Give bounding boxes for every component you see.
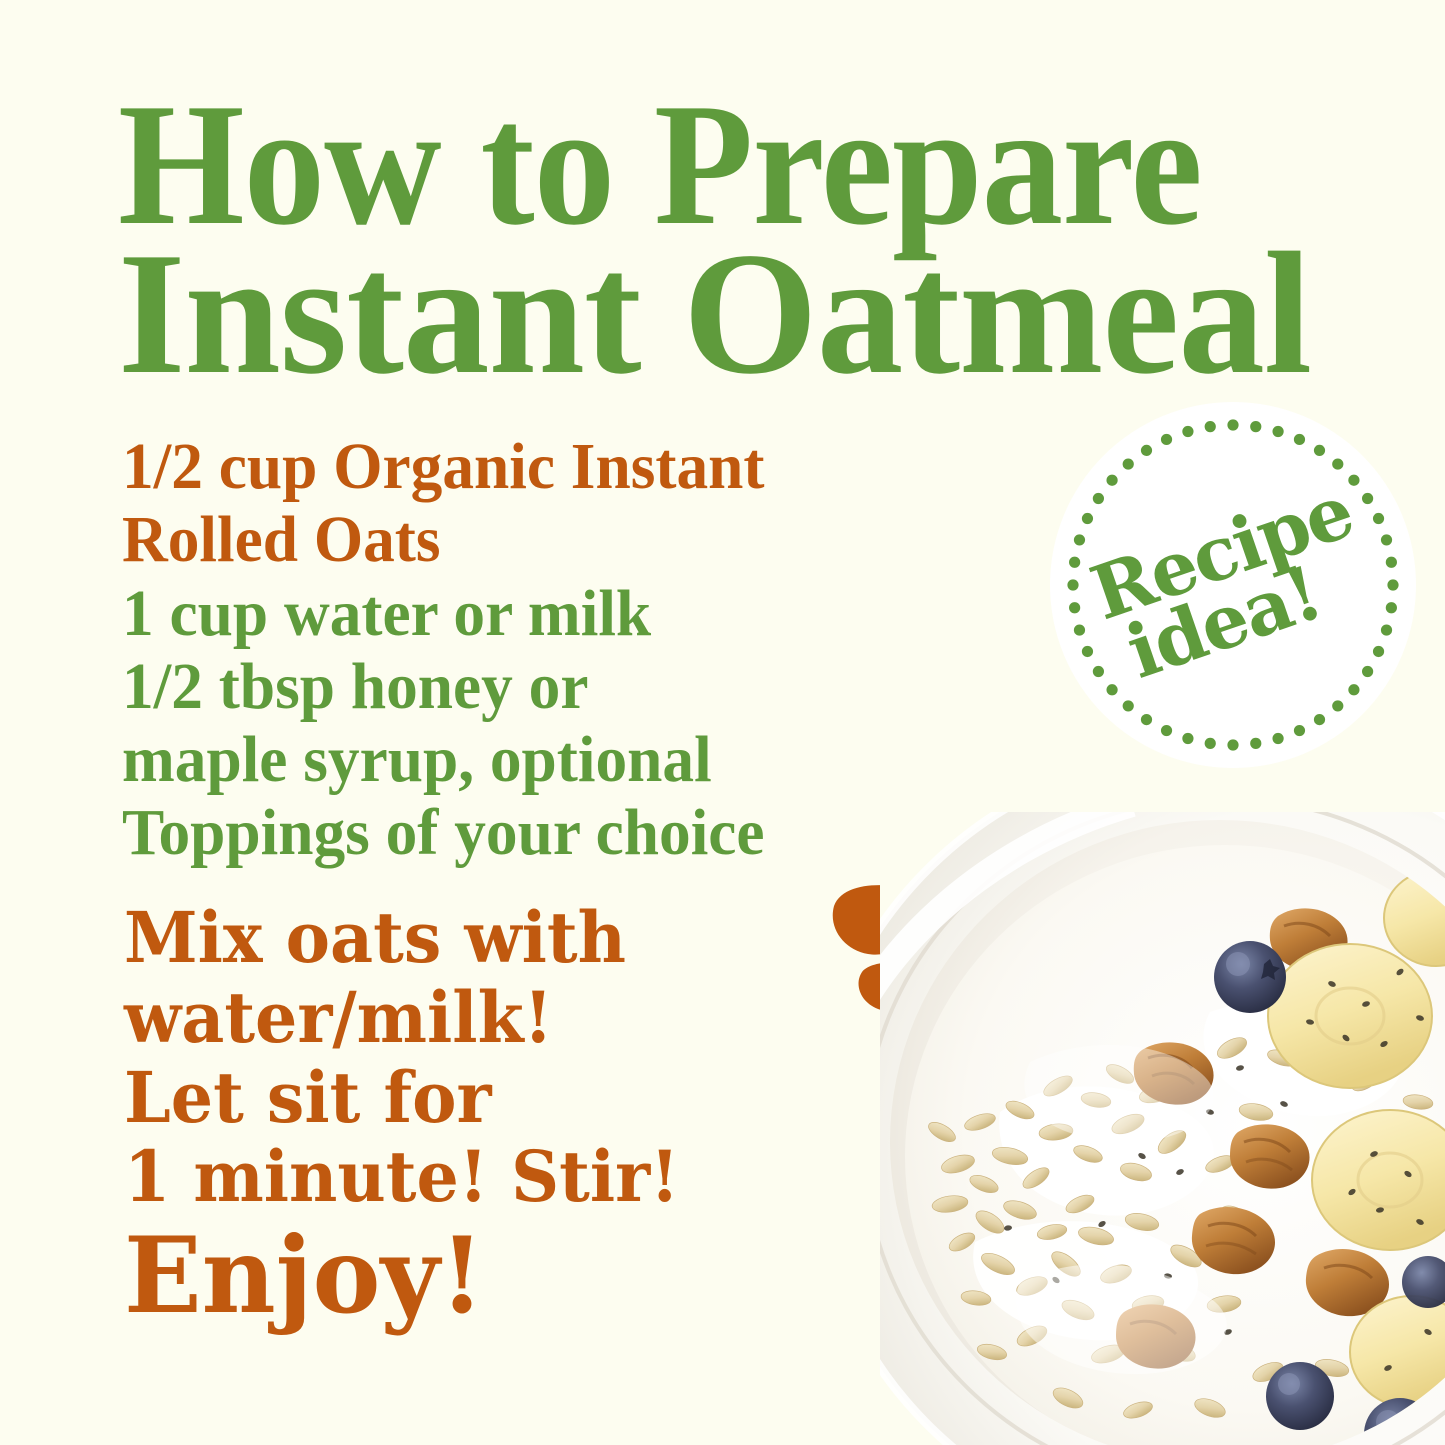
ingredient-line: 1 cup water or milk	[122, 577, 1015, 650]
recipe-idea-badge: Recipe idea!	[1050, 402, 1416, 768]
instruction-line: Mix oats with	[124, 898, 884, 978]
recipe-poster: How to Prepare Instant Oatmeal 1/2 cup O…	[0, 0, 1445, 1445]
ingredients-list: 1/2 cup Organic Instant Rolled Oats 1 cu…	[122, 430, 1052, 870]
ingredient-line: maple syrup, optional	[122, 723, 1015, 796]
ingredient-line: 1/2 tbsp honey or	[122, 650, 1015, 723]
instruction-line: 1 minute! Stir!	[124, 1137, 884, 1217]
instructions-list: Mix oats with water/milk! Let sit for 1 …	[124, 898, 924, 1328]
ingredient-line: 1/2 cup Organic Instant	[122, 430, 1015, 503]
oatmeal-bowl-illustration	[880, 812, 1445, 1445]
title-line-2: Instant Oatmeal	[118, 241, 1356, 386]
page-title: How to Prepare Instant Oatmeal	[118, 92, 1368, 387]
oatmeal-bowl-photo	[880, 812, 1445, 1445]
instruction-line: water/milk!	[124, 978, 884, 1058]
ingredient-line: Rolled Oats	[122, 503, 1015, 576]
instruction-line: Let sit for	[124, 1058, 884, 1138]
enjoy-callout: Enjoy!	[124, 1223, 900, 1328]
